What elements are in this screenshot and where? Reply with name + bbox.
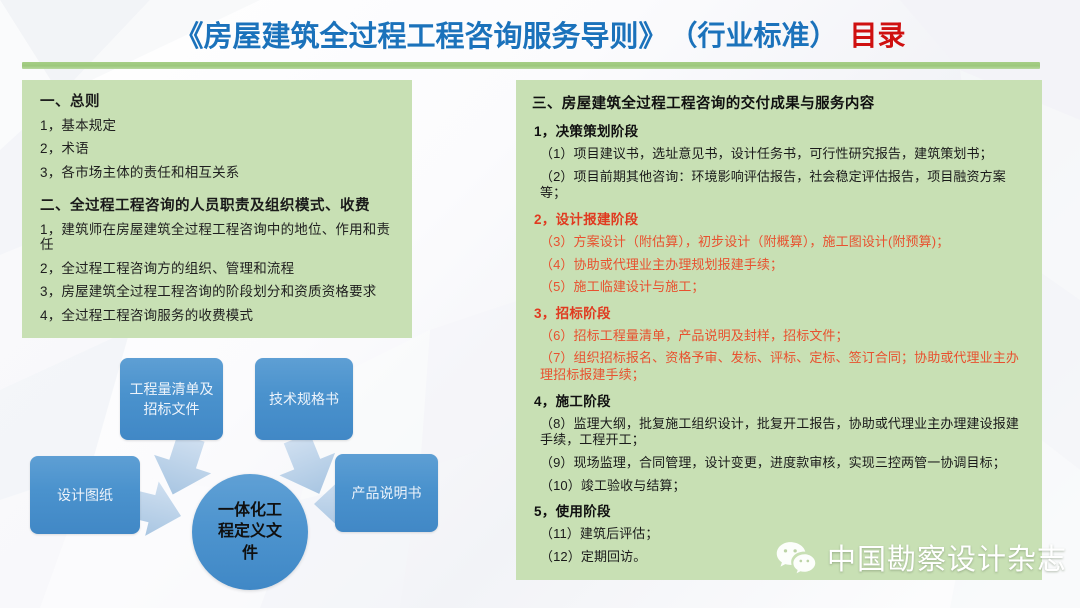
right-content-panel: 三、房屋建筑全过程工程咨询的交付成果与服务内容 1，决策策划阶段 （1）项目建议… — [516, 80, 1042, 580]
watermark-text: 中国勘察设计杂志 — [827, 536, 1067, 578]
left-list-item: 2，全过程工程咨询方的组织、管理和流程 — [40, 261, 398, 277]
title-divider — [22, 62, 1040, 69]
left-list-item: 3，房屋建筑全过程工程咨询的阶段划分和资质资格要求 — [40, 284, 398, 300]
stage-item: （5）施工临建设计与施工； — [540, 279, 1028, 296]
stage-item: （1）项目建议书，选址意见书，设计任务书，可行性研究报告，建筑策划书； — [540, 146, 1028, 163]
stage-item: （7）组织招标报名、资格予审、发标、评标、定标、签订合同；协助或代理业主办理招标… — [540, 350, 1028, 383]
stage-heading-3: 3，招标阶段 — [534, 302, 1028, 322]
left-list-item: 1，基本规定 — [40, 118, 398, 134]
node-technical-spec[interactable]: 技术规格书 — [255, 358, 353, 440]
left-list-item: 4，全过程工程咨询服务的收费模式 — [40, 308, 398, 324]
page-title: 《房屋建筑全过程工程咨询服务导则》 — [174, 13, 667, 55]
watermark: 中国勘察设计杂志 — [775, 531, 1067, 583]
stage-item: （6）招标工程量清单，产品说明及封样，招标文件； — [540, 328, 1028, 345]
stage-heading-1: 1，决策策划阶段 — [534, 120, 1028, 140]
stage-item: （10）竣工验收与结算； — [540, 478, 1028, 495]
stage-heading-4: 4，施工阶段 — [534, 390, 1028, 410]
diagram-center-label: 一体化工程定义文件 — [217, 500, 283, 565]
left-panel-body: 一、总则 1，基本规定 2，术语 3，各市场主体的责任和相互关系 二、全过程工程… — [22, 80, 412, 338]
integrated-definition-diagram: 工程量清单及招标文件 技术规格书 设计图纸 产品说明书 一体化工程定义文件 — [20, 344, 490, 606]
page-title-subtitle: （行业标准） — [669, 14, 837, 54]
node-label: 技术规格书 — [269, 389, 339, 409]
stage-heading-2: 2，设计报建阶段 — [534, 208, 1028, 228]
stage-item: （4）协助或代理业主办理规划报建手续； — [540, 257, 1028, 274]
slide-title-row: 《房屋建筑全过程工程咨询服务导则》 （行业标准） 目录 — [0, 10, 1080, 58]
left-content-panel: 一、总则 1，基本规定 2，术语 3，各市场主体的责任和相互关系 二、全过程工程… — [22, 80, 412, 338]
left-list-item: 2，术语 — [40, 141, 398, 157]
diagram-center-node[interactable]: 一体化工程定义文件 — [192, 474, 308, 590]
node-product-manual[interactable]: 产品说明书 — [335, 454, 438, 532]
stage-item: （3）方案设计（附估算），初步设计（附概算），施工图设计(附预算)； — [540, 234, 1028, 251]
right-panel-body: 三、房屋建筑全过程工程咨询的交付成果与服务内容 1，决策策划阶段 （1）项目建议… — [516, 80, 1042, 580]
right-section-heading: 三、房屋建筑全过程工程咨询的交付成果与服务内容 — [532, 92, 1028, 113]
node-label: 设计图纸 — [57, 485, 113, 505]
left-list-item: 3，各市场主体的责任和相互关系 — [40, 165, 398, 181]
stage-item: （9）现场监理，合同管理，设计变更，进度款审核，实现三控两管一协调目标； — [540, 455, 1028, 472]
node-design-drawings[interactable]: 设计图纸 — [30, 456, 140, 534]
left-section-heading-2: 二、全过程工程咨询的人员职责及组织模式、收费 — [40, 198, 398, 215]
left-list-item: 1，建筑师在房屋建筑全过程工程咨询中的地位、作用和责任 — [40, 222, 398, 253]
stage-item: （2）项目前期其他咨询：环境影响评估报告，社会稳定评估报告，项目融资方案等； — [540, 169, 1028, 202]
stage-heading-5: 5，使用阶段 — [534, 500, 1028, 520]
node-bill-of-quantities[interactable]: 工程量清单及招标文件 — [120, 358, 223, 440]
node-label: 工程量清单及招标文件 — [128, 379, 215, 420]
page-title-badge: 目录 — [850, 14, 906, 54]
slide-canvas: 《房屋建筑全过程工程咨询服务导则》 （行业标准） 目录 一、总则 1，基本规定 … — [0, 0, 1080, 608]
node-label: 产品说明书 — [352, 483, 422, 503]
left-section-heading-1: 一、总则 — [40, 94, 398, 111]
wechat-icon — [775, 539, 817, 575]
stage-item: （8）监理大纲，批复施工组织设计，批复开工报告，协助或代理业主办理建设报建手续，… — [540, 416, 1028, 449]
